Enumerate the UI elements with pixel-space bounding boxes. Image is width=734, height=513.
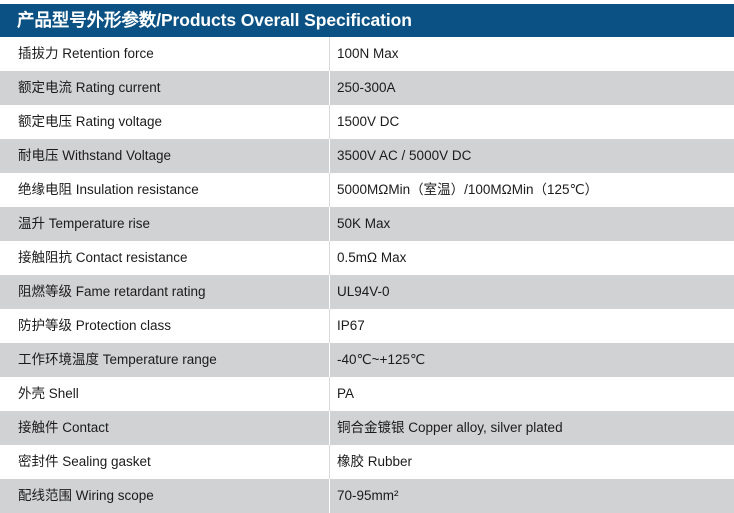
spec-value-cell: 250-300A [337, 71, 727, 105]
table-row: 温升 Temperature rise50K Max [0, 207, 734, 241]
spec-label-cell: 外壳 Shell [18, 377, 323, 411]
spec-label-cell: 密封件 Sealing gasket [18, 445, 323, 479]
spec-label-cell: 额定电压 Rating voltage [18, 105, 323, 139]
spec-value-cell: -40℃~+125℃ [337, 343, 727, 377]
table-row: 外壳 ShellPA [0, 377, 734, 411]
spec-label-cell: 额定电流 Rating current [18, 71, 323, 105]
spec-value-cell: 100N Max [337, 37, 727, 71]
spec-value-cell: 橡胶 Rubber [337, 445, 727, 479]
products-overall-specification-table: 产品型号外形参数/Products Overall Specification … [0, 0, 734, 513]
spec-label-cell: 温升 Temperature rise [18, 207, 323, 241]
page-title: 产品型号外形参数/Products Overall Specification [17, 12, 412, 30]
spec-value-cell: 1500V DC [337, 105, 727, 139]
spec-label-cell: 耐电压 Withstand Voltage [18, 139, 323, 173]
spec-label-cell: 工作环境温度 Temperature range [18, 343, 323, 377]
table-row: 配线范围 Wiring scope70-95mm² [0, 479, 734, 513]
spec-label-cell: 配线范围 Wiring scope [18, 479, 323, 513]
table-row: 阻燃等级 Fame retardant ratingUL94V-0 [0, 275, 734, 309]
spec-value-cell: 70-95mm² [337, 479, 727, 513]
spec-value-cell: UL94V-0 [337, 275, 727, 309]
table-row: 防护等级 Protection classIP67 [0, 309, 734, 343]
table-row: 绝缘电阻 Insulation resistance5000MΩMin（室温）/… [0, 173, 734, 207]
spec-value-cell: 50K Max [337, 207, 727, 241]
spec-value-cell: 3500V AC / 5000V DC [337, 139, 727, 173]
spec-label-cell: 绝缘电阻 Insulation resistance [18, 173, 323, 207]
table-row: 额定电流 Rating current250-300A [0, 71, 734, 105]
spec-value-cell: 铜合金镀银 Copper alloy, silver plated [337, 411, 727, 445]
spec-label-cell: 接触件 Contact [18, 411, 323, 445]
table-row: 密封件 Sealing gasket橡胶 Rubber [0, 445, 734, 479]
table-row: 接触阻抗 Contact resistance0.5mΩ Max [0, 241, 734, 275]
spec-value-cell: PA [337, 377, 727, 411]
spec-value-cell: IP67 [337, 309, 727, 343]
table-row: 工作环境温度 Temperature range-40℃~+125℃ [0, 343, 734, 377]
spec-label-cell: 插拔力 Retention force [18, 37, 323, 71]
table-row: 插拔力 Retention force100N Max [0, 37, 734, 71]
table-header-bar: 产品型号外形参数/Products Overall Specification [0, 4, 734, 37]
table-row: 耐电压 Withstand Voltage3500V AC / 5000V DC [0, 139, 734, 173]
table-body: 插拔力 Retention force100N Max额定电流 Rating c… [0, 37, 734, 513]
spec-label-cell: 阻燃等级 Fame retardant rating [18, 275, 323, 309]
spec-label-cell: 防护等级 Protection class [18, 309, 323, 343]
table-row: 额定电压 Rating voltage1500V DC [0, 105, 734, 139]
spec-label-cell: 接触阻抗 Contact resistance [18, 241, 323, 275]
table-row: 接触件 Contact铜合金镀银 Copper alloy, silver pl… [0, 411, 734, 445]
spec-value-cell: 0.5mΩ Max [337, 241, 727, 275]
spec-value-cell: 5000MΩMin（室温）/100MΩMin（125℃） [337, 173, 727, 207]
